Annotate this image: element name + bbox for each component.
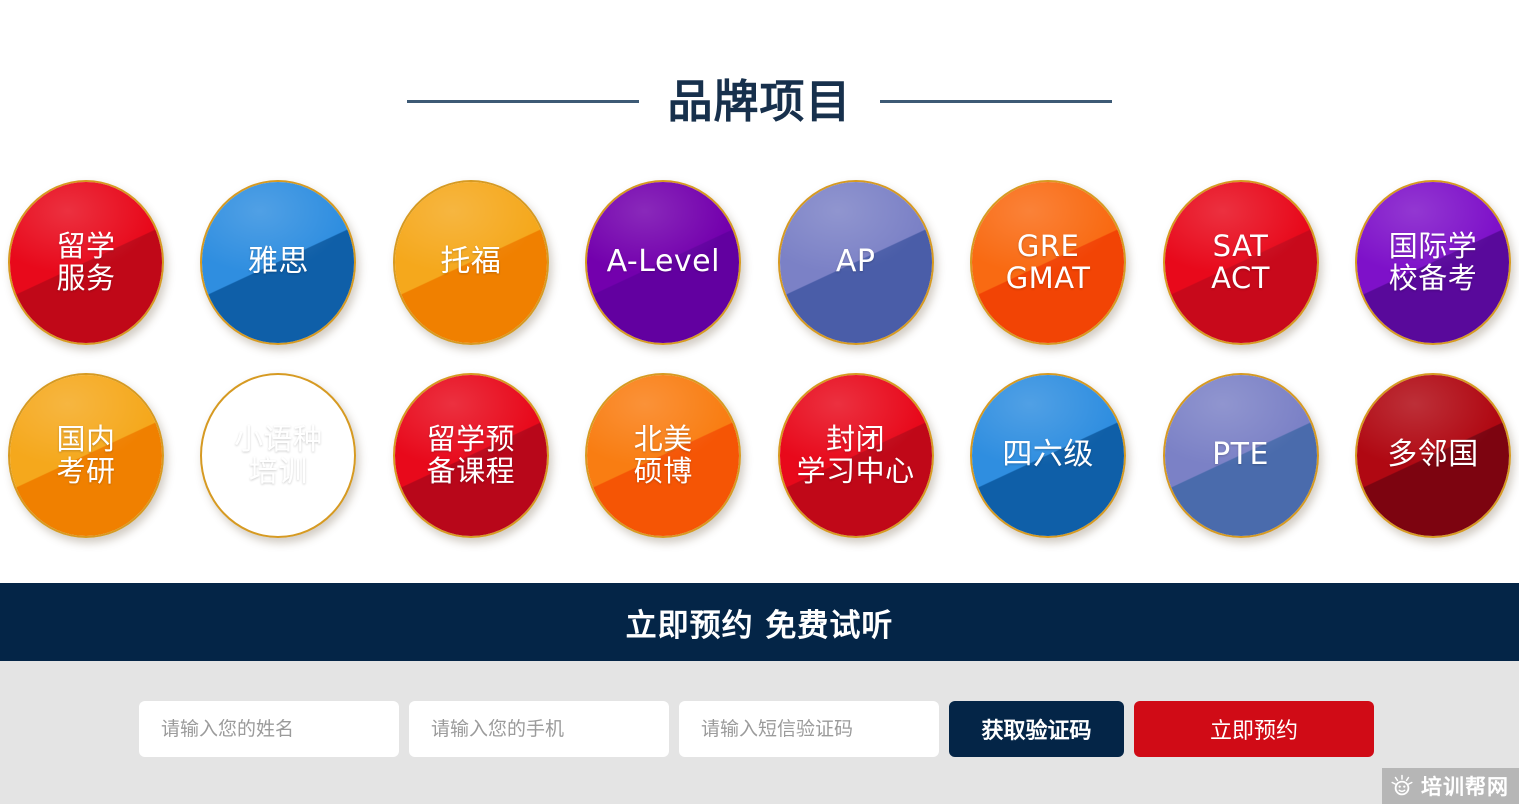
program-bubble-minor-languages[interactable]: 小语种培训 <box>200 373 356 538</box>
program-label: 北美硕博 <box>634 424 693 487</box>
cta-banner-text: 立即预约 免费试听 <box>626 600 894 645</box>
program-label: 小语种培训 <box>234 424 323 487</box>
program-label: SATACT <box>1211 231 1270 294</box>
phone-input[interactable] <box>409 701 669 757</box>
program-label: 国际学校备考 <box>1389 231 1478 294</box>
program-label: 多邻国 <box>1387 439 1479 471</box>
program-label: 四六级 <box>1002 439 1094 471</box>
program-label: A-Level <box>607 246 720 278</box>
booking-form: 获取验证码 立即预约 <box>139 701 1374 757</box>
program-bubble-ap[interactable]: AP <box>778 180 934 345</box>
submit-booking-button[interactable]: 立即预约 <box>1134 701 1374 757</box>
program-label: 国内考研 <box>56 424 115 487</box>
program-bubble-liuxuefuwu[interactable]: 留学服务 <box>8 180 164 345</box>
program-bubble-intl-school-prep[interactable]: 国际学校备考 <box>1355 180 1511 345</box>
program-label: AP <box>836 246 876 278</box>
program-bubble-study-abroad-prep[interactable]: 留学预备课程 <box>393 373 549 538</box>
program-grid: 留学服务 雅思 托福 A-Level AP GREGMAT SATACT 国际学… <box>0 180 1519 538</box>
watermark-text: 培训帮网 <box>1421 771 1509 801</box>
program-bubble-alevel[interactable]: A-Level <box>585 180 741 345</box>
program-bubble-ielts[interactable]: 雅思 <box>200 180 356 345</box>
program-label: 留学预备课程 <box>427 424 516 487</box>
program-row-1: 留学服务 雅思 托福 A-Level AP GREGMAT SATACT 国际学… <box>0 180 1519 345</box>
cta-banner: 立即预约 免费试听 <box>0 583 1519 661</box>
program-bubble-duolingo[interactable]: 多邻国 <box>1355 373 1511 538</box>
program-bubble-toefl[interactable]: 托福 <box>393 180 549 345</box>
name-input[interactable] <box>139 701 399 757</box>
section-header: 品牌项目 <box>0 64 1519 138</box>
program-bubble-closed-study-center[interactable]: 封闭学习中心 <box>778 373 934 538</box>
watermark-badge: 培训帮网 <box>1382 768 1519 804</box>
title-rule-right <box>880 100 1112 103</box>
program-label: PTE <box>1212 439 1269 471</box>
program-label: 留学服务 <box>56 231 115 294</box>
sms-code-input[interactable] <box>679 701 939 757</box>
program-label: 托福 <box>440 246 501 278</box>
program-bubble-cet46[interactable]: 四六级 <box>970 373 1126 538</box>
program-row-2: 国内考研 小语种培训 留学预备课程 北美硕博 封闭学习中心 四六级 PTE 多邻… <box>0 373 1519 538</box>
booking-form-section: 获取验证码 立即预约 <box>0 661 1519 804</box>
page-title: 品牌项目 <box>667 79 851 124</box>
program-label: 封闭学习中心 <box>797 424 915 487</box>
program-label: GREGMAT <box>1006 231 1091 294</box>
program-label: 雅思 <box>248 246 309 278</box>
title-rule-left <box>407 100 639 103</box>
program-bubble-north-america-grad[interactable]: 北美硕博 <box>585 373 741 538</box>
program-bubble-pte[interactable]: PTE <box>1163 373 1319 538</box>
sun-face-icon <box>1390 774 1414 798</box>
get-sms-code-button[interactable]: 获取验证码 <box>949 701 1124 757</box>
program-bubble-sat-act[interactable]: SATACT <box>1163 180 1319 345</box>
program-bubble-domestic-postgrad[interactable]: 国内考研 <box>8 373 164 538</box>
program-bubble-gre-gmat[interactable]: GREGMAT <box>970 180 1126 345</box>
